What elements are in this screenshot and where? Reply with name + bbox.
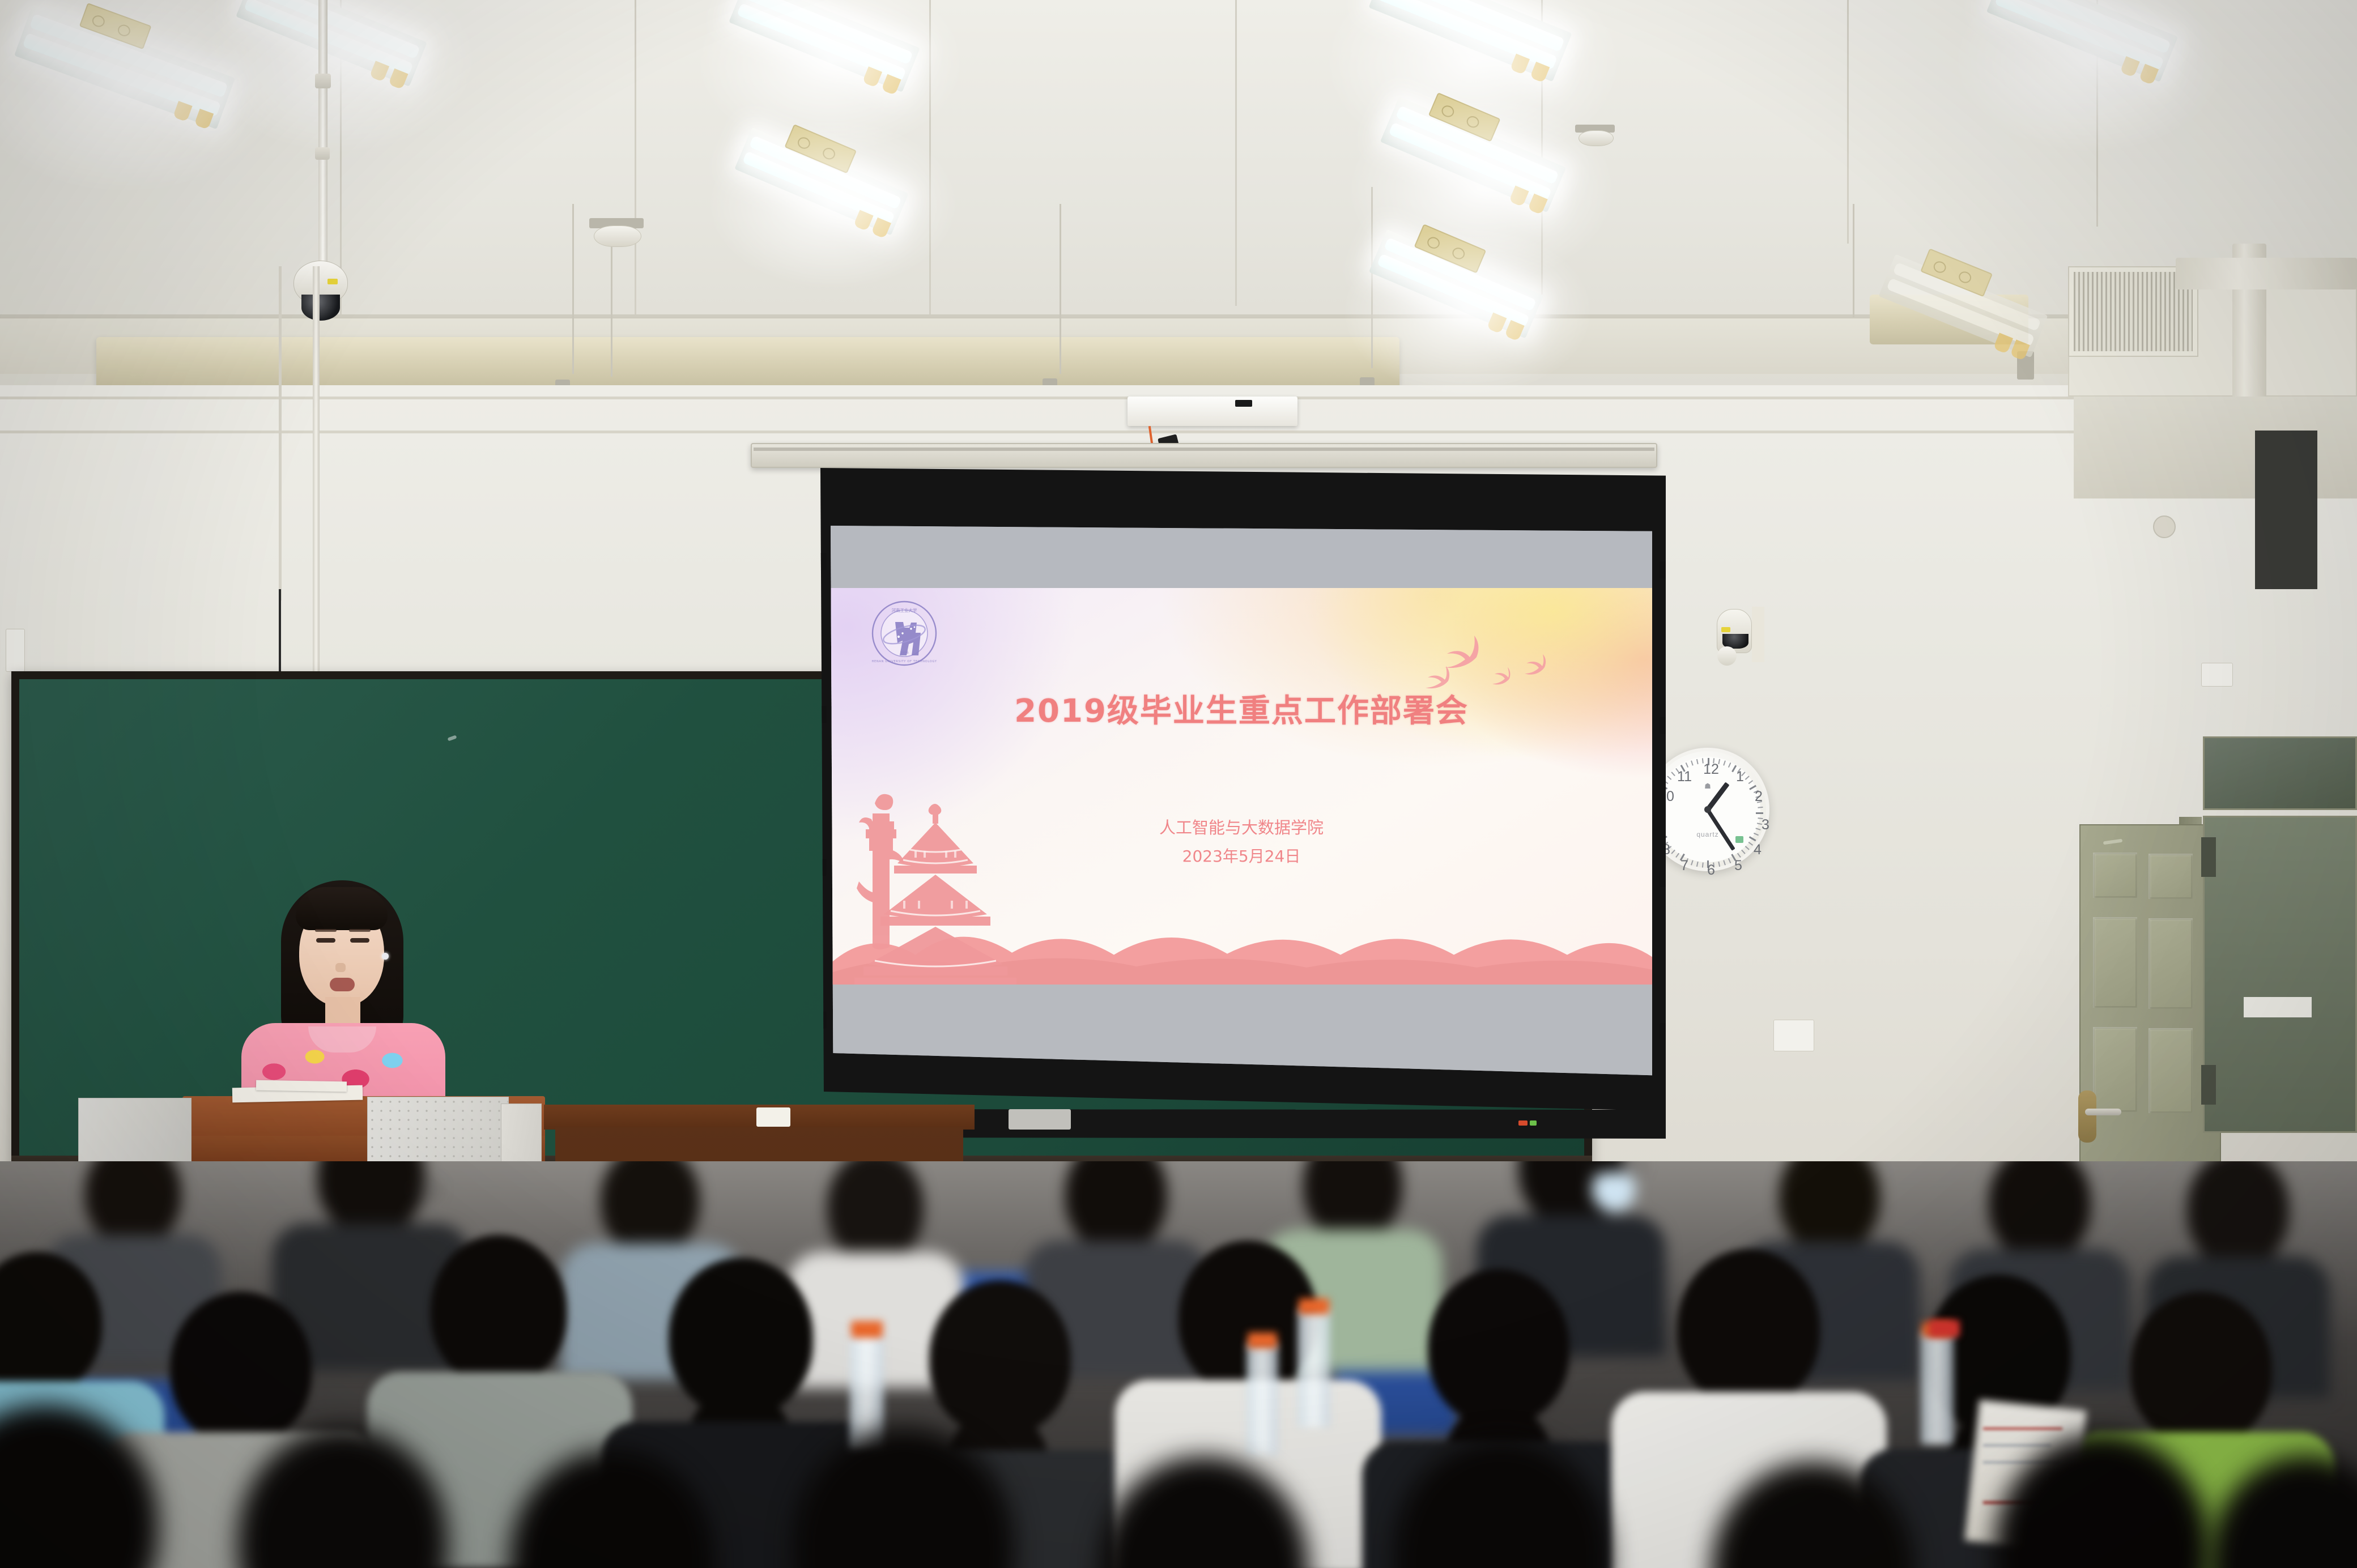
camera-label-tag [327, 279, 338, 284]
light-switch-plate[interactable] [1773, 1020, 1814, 1051]
smoke-detector [1579, 130, 1614, 146]
audience-area [0, 1161, 2357, 1568]
door-hinge [2201, 837, 2216, 877]
screen-housing [751, 443, 1657, 468]
water-bottle[interactable] [1297, 1309, 1330, 1428]
ceiling-panel-seam [929, 0, 931, 317]
projector-mount-bracket [1128, 397, 1297, 426]
window-latch[interactable] [2244, 997, 2312, 1017]
red-cup [1929, 1320, 1960, 1337]
door-panel [2093, 853, 2137, 898]
svg-text:1956: 1956 [900, 651, 908, 655]
classroom-photo: ☗ quartz 12 1 2 3 4 5 6 7 8 9 10 11 [0, 0, 2357, 1568]
wall-bell-icon [2153, 515, 2176, 538]
svg-text:河南工业大学: 河南工业大学 [892, 607, 917, 613]
clock-number-1: 1 [1730, 769, 1750, 785]
desk-tray-item [1009, 1109, 1071, 1130]
presenter-earring [382, 953, 389, 960]
clock-number-12: 12 [1701, 761, 1721, 778]
ceiling-panel-seam [1847, 0, 1849, 244]
light-hanger-wire [1060, 204, 1061, 374]
clock-sticker [1735, 836, 1743, 843]
clock-number-3: 3 [1756, 817, 1775, 833]
camera-ir-ball [1717, 646, 1737, 666]
light-hanger-wire [1371, 187, 1373, 368]
bottle-cap [1299, 1298, 1329, 1314]
svg-text:HENAN UNIVERSITY OF TECHNOLOGY: HENAN UNIVERSITY OF TECHNOLOGY [872, 660, 937, 663]
transom-window [2203, 736, 2357, 810]
camera-mount [1752, 607, 1764, 662]
slide-title: 2019级毕业生重点工作部署会 [831, 685, 1652, 731]
presenter-eye-right [350, 938, 369, 943]
clock-number-6: 6 [1701, 862, 1721, 879]
door-panel [2148, 1028, 2193, 1113]
door-panel [2148, 854, 2193, 899]
paper-text-line [1983, 1428, 2062, 1430]
camera-cable-conduit [313, 266, 320, 697]
paper-text-line [1983, 1445, 2051, 1446]
clock-number-7: 7 [1675, 858, 1694, 874]
screen-housing-seam [754, 448, 1654, 451]
temple-of-heaven-silhouette [840, 781, 1027, 985]
camera-pole-joint [315, 147, 330, 160]
presenter-brow-left [315, 929, 337, 932]
light-hanger-wire [572, 204, 574, 374]
wall-plate [6, 629, 25, 672]
presenter-eye-left [316, 938, 335, 943]
clock-brand-label: quartz [1696, 830, 1718, 838]
camera-pole [318, 0, 327, 266]
side-window [2203, 816, 2357, 1133]
door-panel [2148, 918, 2193, 1009]
door-panel [2093, 1027, 2137, 1112]
door-panel [2093, 917, 2137, 1008]
wall-trim-line [0, 431, 2357, 433]
detector-wire [611, 246, 612, 377]
screen-grey-band-top [831, 526, 1652, 588]
light-hanger-wire [1853, 204, 1854, 317]
wall-plate [2201, 663, 2233, 687]
ceiling-panel-seam [635, 0, 636, 340]
clock-number-5: 5 [1729, 858, 1748, 874]
desk-box [756, 1107, 790, 1127]
door-scratch [2103, 839, 2123, 845]
university-seal-icon: 1956 河南工业大学 HENAN UNIVERSITY OF TECHNOLO… [870, 599, 938, 667]
projector-connector [1235, 400, 1252, 407]
ceiling-panel-seam [1235, 0, 1237, 306]
bottle-cap [851, 1321, 883, 1338]
microphone-hanger-rod [279, 266, 282, 600]
smoke-detector [594, 225, 641, 247]
bottle-cap [1248, 1332, 1277, 1348]
wall-dark-recess [2255, 431, 2317, 589]
door-hinge [2201, 1065, 2216, 1105]
presenter-brow-right [349, 929, 371, 932]
door-handle-plate[interactable] [2078, 1090, 2096, 1143]
camera-dome-lens [301, 295, 340, 321]
valance-rail [96, 337, 1399, 389]
screen-indicator-led [1518, 1120, 1528, 1126]
vent-grille [2074, 272, 2193, 351]
presenter-nose [335, 963, 346, 972]
camera-label-tag [1721, 627, 1730, 632]
water-bottle[interactable] [1246, 1343, 1278, 1456]
podium-papers[interactable] [256, 1080, 347, 1092]
insulated-pipe-horizontal [2176, 258, 2357, 289]
presenter-bangs [296, 887, 388, 930]
university-logo: 1956 河南工业大学 HENAN UNIVERSITY OF TECHNOLO… [870, 599, 938, 667]
clock-brand-icon: ☗ [1704, 782, 1711, 791]
clock-number-11: 11 [1675, 769, 1694, 785]
water-bottle[interactable] [1921, 1331, 1954, 1445]
clock-number-2: 2 [1749, 789, 1768, 805]
slide-content: 1956 河南工业大学 HENAN UNIVERSITY OF TECHNOLO… [831, 588, 1652, 985]
clock-center-pin [1704, 806, 1711, 813]
clock-number-4: 4 [1748, 842, 1767, 858]
door-handle-lever[interactable] [2085, 1109, 2121, 1115]
presenter-mouth [330, 978, 355, 991]
screen-indicator-led [1530, 1120, 1537, 1126]
camera-pole-joint [315, 74, 331, 88]
projection-screen-surface: 1956 河南工业大学 HENAN UNIVERSITY OF TECHNOLO… [831, 526, 1652, 1081]
